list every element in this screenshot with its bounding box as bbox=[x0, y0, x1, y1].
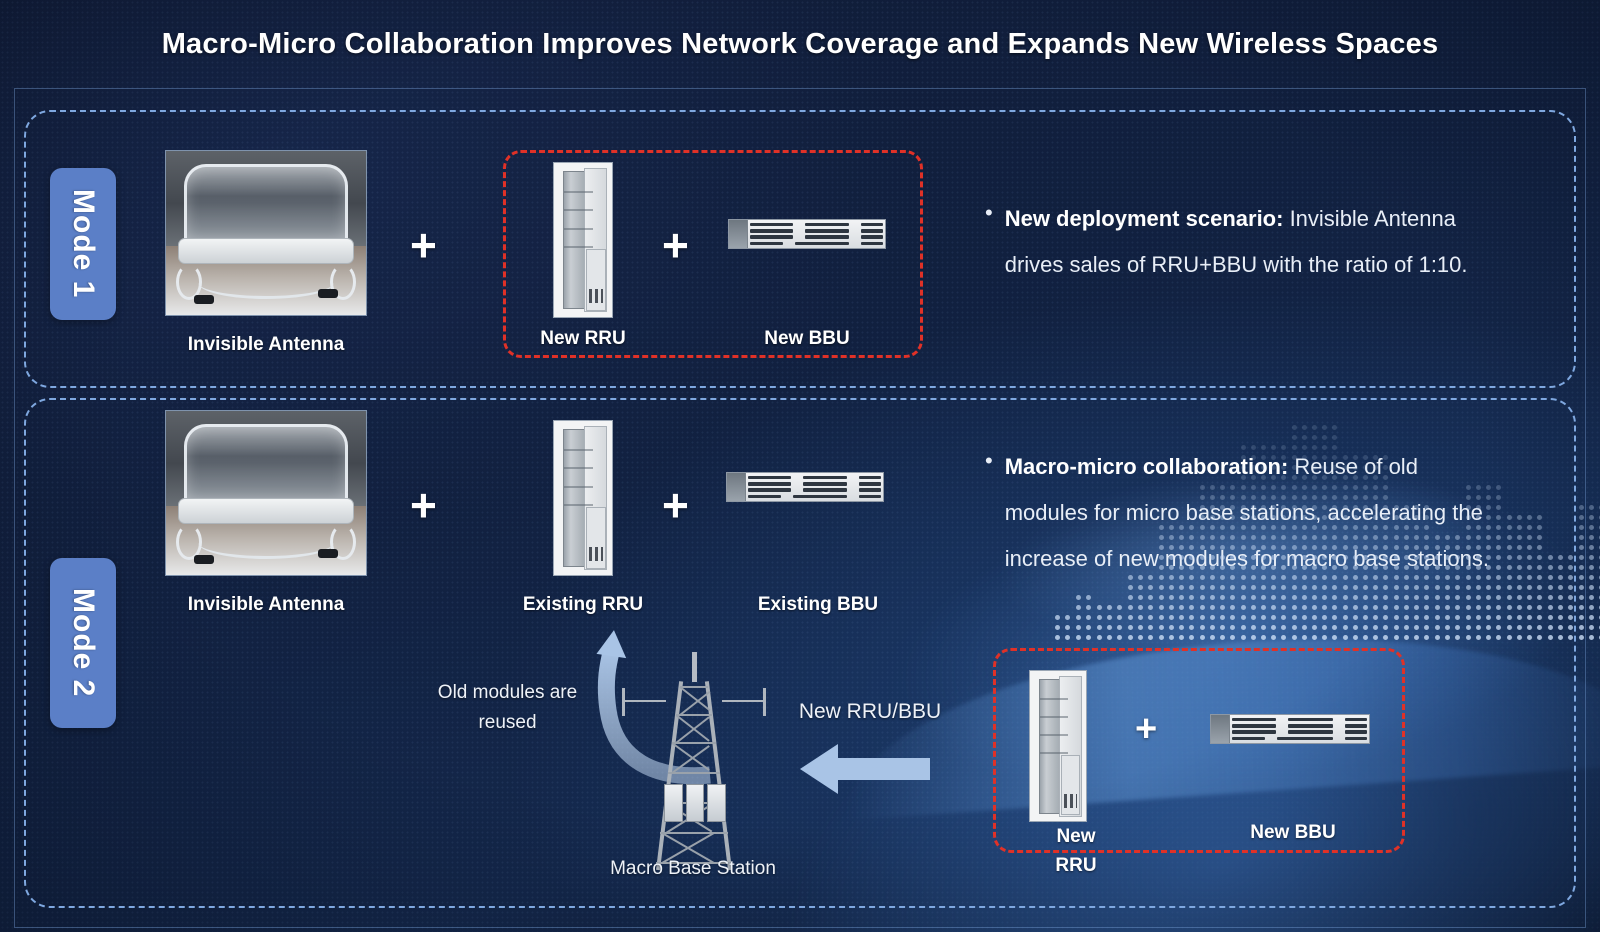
title-bar: Macro-Micro Collaboration Improves Netwo… bbox=[0, 0, 1600, 88]
skyline-column bbox=[1200, 485, 1235, 640]
skyline-column bbox=[1435, 535, 1460, 640]
new-bbu-image-mode1 bbox=[728, 219, 886, 249]
skyline-column bbox=[1579, 505, 1600, 640]
macro-base-station-tower bbox=[640, 652, 748, 870]
plus-operator-mode2-new: + bbox=[1135, 710, 1157, 748]
invisible-antenna-image-mode1 bbox=[165, 150, 367, 316]
bullet-marker-mode1: • bbox=[985, 196, 993, 288]
invisible-antenna-image-mode2 bbox=[165, 410, 367, 576]
skyline-column bbox=[1507, 515, 1542, 640]
existing-bbu-image bbox=[726, 472, 884, 502]
label-new-bbu-mode2: New BBU bbox=[1213, 822, 1373, 844]
slide-canvas: Macro-Micro Collaboration Improves Netwo… bbox=[0, 0, 1600, 932]
bullet-marker-mode2: • bbox=[985, 444, 993, 582]
label-existing-rru: Existing RRU bbox=[508, 594, 658, 616]
new-bbu-image-mode2 bbox=[1210, 714, 1370, 744]
page-title: Macro-Micro Collaboration Improves Netwo… bbox=[162, 28, 1439, 61]
skyline-column bbox=[1097, 605, 1122, 640]
label-reuse-arrow: Old modules are reused bbox=[410, 678, 605, 738]
label-macro-base-station: Macro Base Station bbox=[598, 858, 788, 880]
label-new-bbu-mode1: New BBU bbox=[737, 328, 877, 350]
skyline-column bbox=[1128, 575, 1153, 640]
label-new-rru-mode1: New RRU bbox=[513, 328, 653, 350]
label-invisible-antenna-mode1: Invisible Antenna bbox=[165, 334, 367, 356]
bullet-text-mode1: New deployment scenario: Invisible Anten… bbox=[1005, 196, 1505, 288]
mode-1-badge-label: Mode 1 bbox=[66, 189, 100, 298]
skyline-column bbox=[1466, 485, 1501, 640]
mode-1-bullet: • New deployment scenario: Invisible Ant… bbox=[985, 196, 1505, 288]
label-new-rru-mode2: New RRU bbox=[1036, 822, 1116, 880]
mode-2-badge-label: Mode 2 bbox=[66, 588, 100, 697]
new-rru-image-mode1 bbox=[553, 162, 613, 318]
skyline-column bbox=[1159, 525, 1194, 640]
plus-operator-mode2-a: + bbox=[410, 482, 437, 528]
new-rru-image-mode2 bbox=[1029, 670, 1087, 822]
existing-rru-image bbox=[553, 420, 613, 576]
skyline-column bbox=[1548, 555, 1573, 640]
plus-operator-mode2-b: + bbox=[662, 482, 689, 528]
mode-2-badge: Mode 2 bbox=[50, 558, 116, 728]
label-new-rru-bbu-flow: New RRU/BBU bbox=[790, 700, 950, 724]
label-existing-bbu: Existing BBU bbox=[742, 594, 894, 616]
skyline-column bbox=[1292, 425, 1337, 640]
plus-operator-mode1-b: + bbox=[662, 222, 689, 268]
skyline-column bbox=[1343, 455, 1388, 640]
skyline-column bbox=[1241, 445, 1286, 640]
new-rru-bbu-flow-arrow bbox=[800, 740, 930, 798]
plus-operator-mode1-a: + bbox=[410, 222, 437, 268]
skyline-column bbox=[1076, 595, 1091, 640]
label-invisible-antenna-mode2: Invisible Antenna bbox=[165, 594, 367, 616]
bullet-bold-mode1: New deployment scenario: bbox=[1005, 206, 1284, 231]
mode-1-badge: Mode 1 bbox=[50, 168, 116, 320]
skyline-column bbox=[1055, 615, 1070, 640]
city-skyline-dots bbox=[1055, 490, 1405, 640]
skyline-column bbox=[1394, 505, 1429, 640]
